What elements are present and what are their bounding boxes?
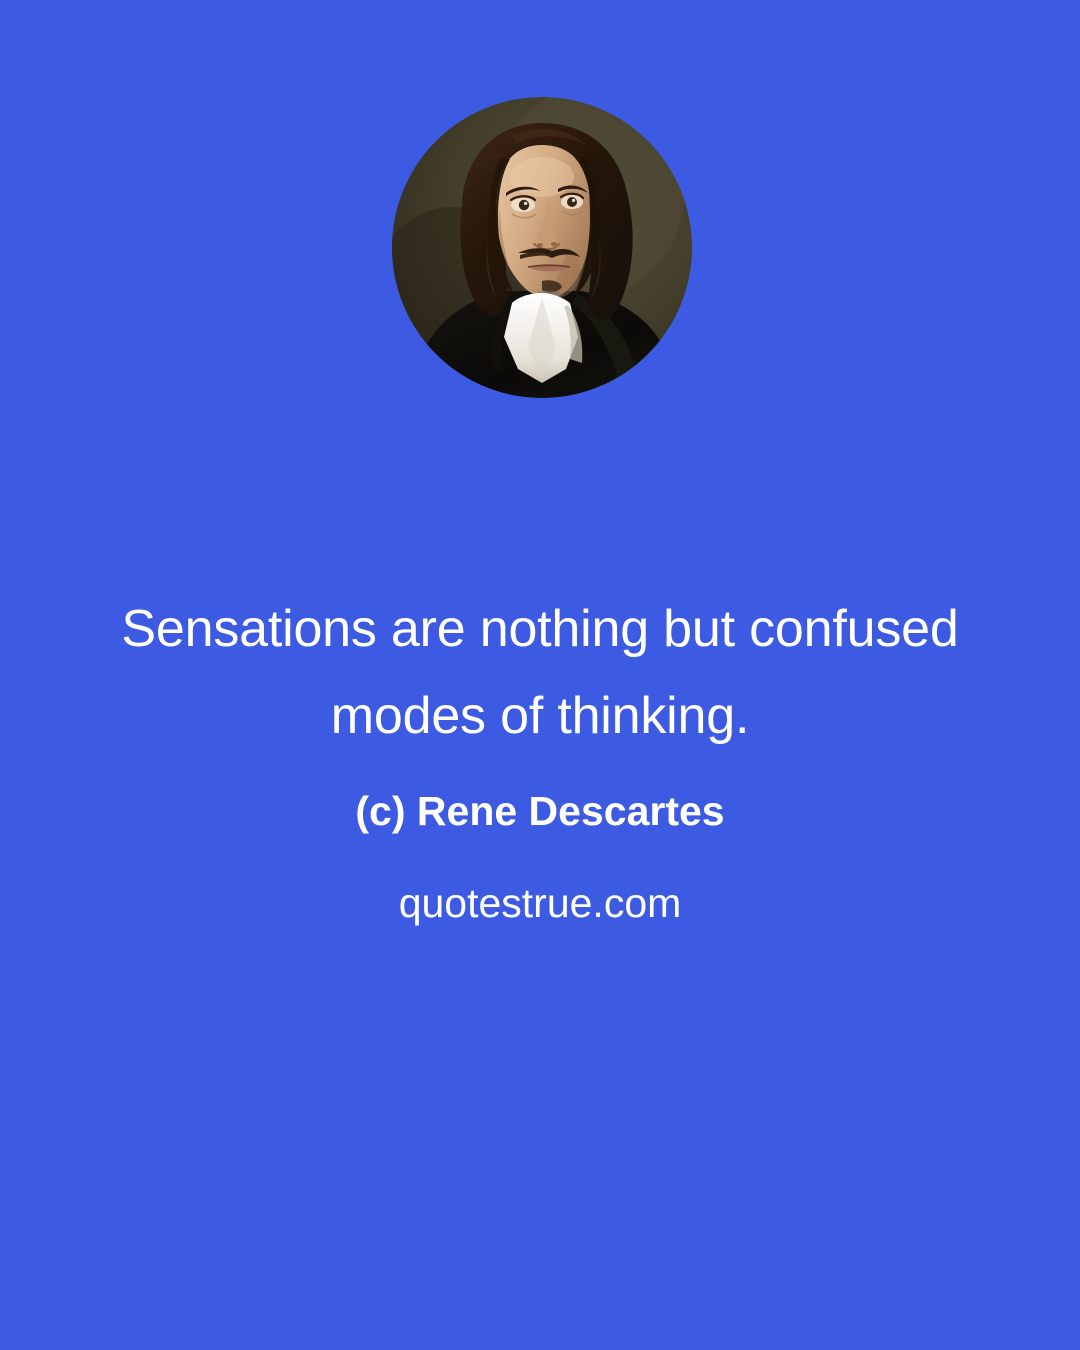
quote-card: Sensations are nothing but confused mode… (0, 0, 1080, 1350)
quote-line-1: Sensations are nothing but confused (90, 586, 990, 673)
quote-author: (c) Rene Descartes (0, 784, 1080, 838)
quote-line-2: modes of thinking. (90, 673, 990, 760)
portrait-illustration (392, 97, 692, 398)
portrait-rene-descartes (392, 97, 692, 398)
site-watermark: quotestrue.com (0, 876, 1080, 930)
quote-text: Sensations are nothing but confused mode… (0, 586, 1080, 760)
